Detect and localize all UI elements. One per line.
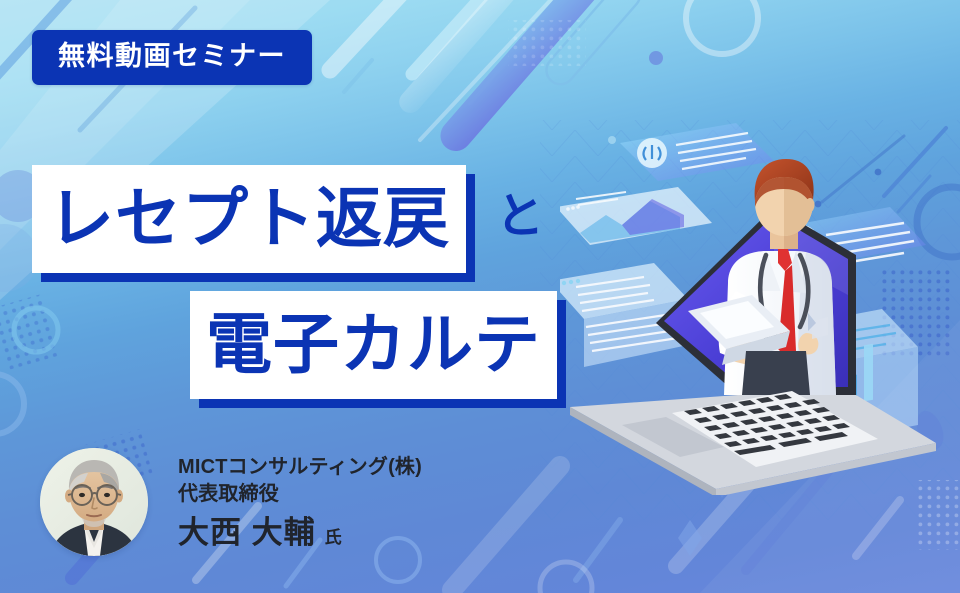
speaker-avatar (40, 448, 148, 556)
headline-line-2: 電子カルテ (190, 291, 557, 399)
free-seminar-badge: 無料動画セミナー (32, 30, 312, 85)
floating-ui-card-chart (560, 187, 712, 245)
speaker-title: 代表取締役 (178, 481, 422, 508)
headline-line-1: レセプト返戻 と (32, 165, 544, 273)
speaker-honorific: 氏 (325, 523, 342, 548)
speaker-text: MICTコンサルティング(株) 代表取締役 大西 大輔 氏 (178, 454, 422, 551)
speaker-name: 大西 大輔 (178, 515, 316, 551)
isometric-doctor-laptop-illustration (560, 95, 960, 495)
headline-conjunction: と (496, 193, 544, 241)
floating-ui-card-lungs (620, 123, 774, 181)
headline-boxed-text-2: 電子カルテ (190, 291, 557, 399)
headline-boxed-text-1: レセプト返戻 (32, 165, 466, 273)
speaker-block: MICTコンサルティング(株) 代表取締役 大西 大輔 氏 (40, 448, 422, 556)
speaker-company: MICTコンサルティング(株) (178, 454, 422, 481)
speaker-name-row: 大西 大輔 氏 (178, 515, 422, 551)
seminar-banner: 無料動画セミナー レセプト返戻 と 電子カルテ (0, 0, 960, 593)
